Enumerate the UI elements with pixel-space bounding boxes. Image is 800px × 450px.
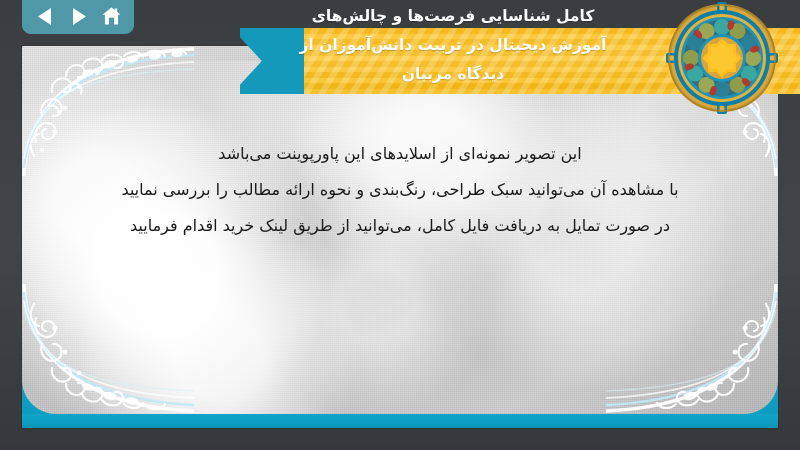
- prev-slide-button[interactable]: [31, 3, 59, 29]
- body-line-3: در صورت تمایل به دریافت فایل کامل، می‌تو…: [82, 208, 718, 244]
- title-banner-notch: [240, 28, 304, 94]
- slide-bottom-strip: [22, 414, 778, 428]
- next-slide-button[interactable]: [64, 3, 92, 29]
- home-button[interactable]: [97, 3, 125, 29]
- body-line-1: این تصویر نمونه‌ای از اسلایدهای این پاور…: [82, 136, 718, 172]
- slide-title-banner: کامل شناسایی فرصت‌ها و چالش‌های آموزش دی…: [240, 0, 800, 104]
- persian-rosette-medallion-icon: [666, 2, 778, 114]
- title-line-1: کامل شناسایی فرصت‌ها و چالش‌های: [240, 2, 666, 31]
- triangle-right-icon: [70, 7, 87, 26]
- home-icon: [101, 6, 122, 27]
- slide-viewer: این تصویر نمونه‌ای از اسلایدهای این پاور…: [0, 0, 800, 450]
- triangle-left-icon: [37, 7, 54, 26]
- body-line-2: با مشاهده آن می‌توانید سبک طراحی، رنگ‌بن…: [82, 172, 718, 208]
- viewer-nav-bar: [22, 0, 134, 34]
- slide-body-text: این تصویر نمونه‌ای از اسلایدهای این پاور…: [82, 136, 718, 244]
